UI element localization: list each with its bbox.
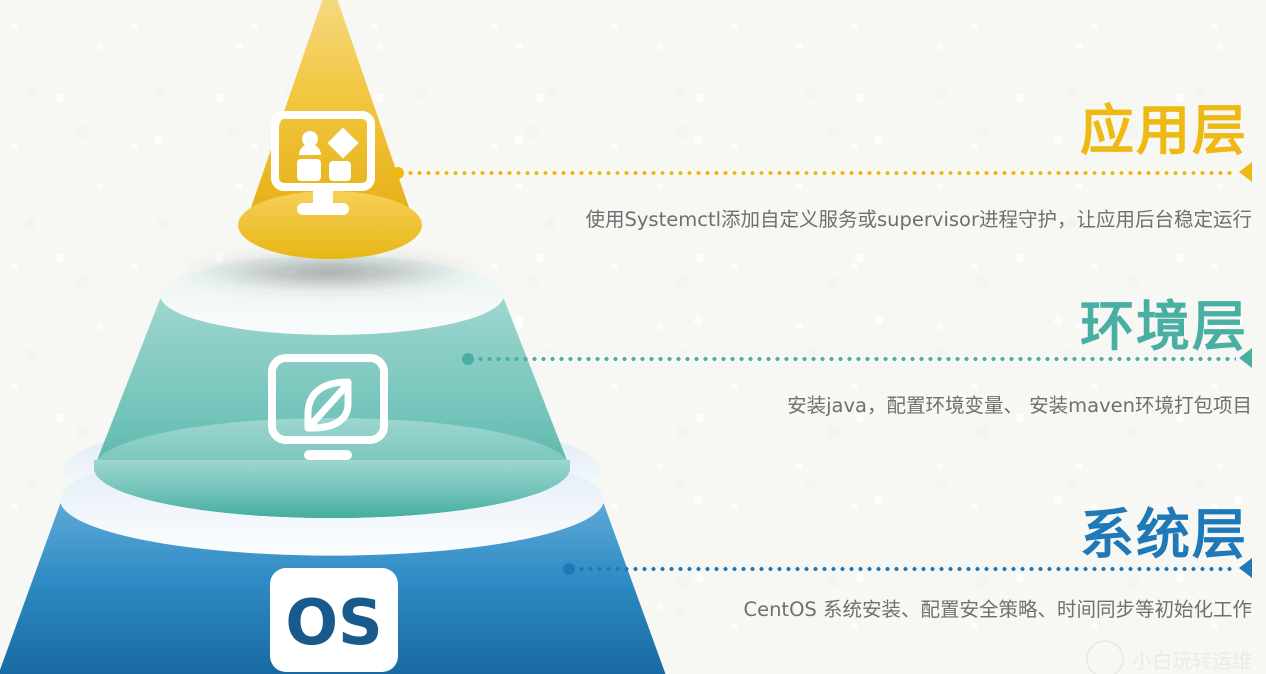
pyramid-tier-application	[238, 0, 422, 259]
connector-start-dot-application	[392, 167, 404, 179]
layer-title-system: 系统层	[1080, 508, 1248, 562]
layer-title-environment: 环境层	[1080, 300, 1248, 354]
watermark-text: 小白玩转运维	[1132, 645, 1252, 674]
connector-arrow-application	[1239, 162, 1252, 182]
layered-pyramid-diagram: OS	[0, 0, 700, 674]
layer-description-environment: 安装java，配置环境变量、 安装maven环境打包项目	[787, 396, 1252, 416]
connector-dots-environment	[476, 357, 1236, 361]
connector-dots-application	[406, 171, 1236, 175]
layer-description-application: 使用Systemctl添加自定义服务或supervisor进程守护，让应用后台稳…	[586, 210, 1252, 230]
connector-line-environment	[462, 356, 1252, 362]
watermark-logo-icon	[1086, 640, 1124, 674]
watermark: 小白玩转运维	[1086, 640, 1252, 674]
slide-canvas: OS 应用层 使用Systemctl添加自定义服务或supervisor进程守护…	[0, 0, 1266, 674]
layer-description-system: CentOS 系统安装、配置安全策略、时间同步等初始化工作	[743, 600, 1252, 620]
connector-start-dot-environment	[462, 353, 474, 365]
svg-text:OS: OS	[285, 586, 382, 659]
connector-start-dot-system	[563, 563, 575, 575]
layer-title-application: 应用层	[1080, 104, 1248, 158]
connector-line-application	[392, 170, 1252, 176]
connector-arrow-environment	[1239, 348, 1252, 368]
connector-line-system	[563, 566, 1252, 572]
connector-dots-system	[577, 567, 1236, 571]
os-badge-icon: OS	[270, 568, 398, 672]
connector-arrow-system	[1239, 558, 1252, 578]
